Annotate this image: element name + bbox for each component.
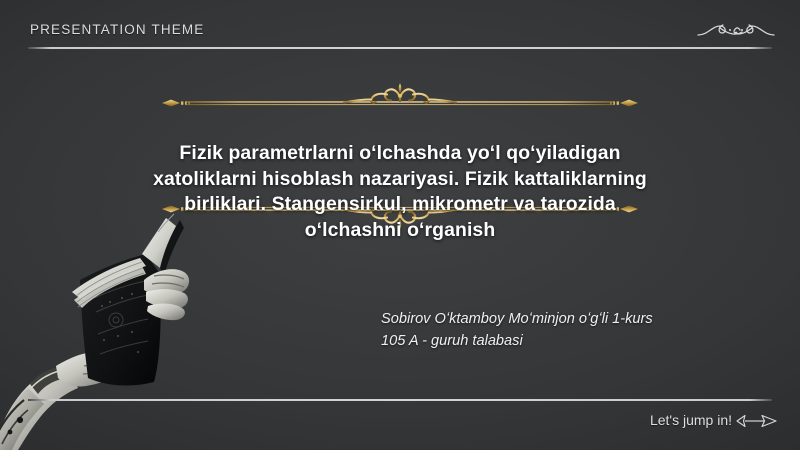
author-subtitle: Sobirov Oʻktamboy Moʻminjon oʻgʻli 1-kur… <box>381 308 671 352</box>
decorative-right-arrow-icon <box>736 413 778 429</box>
header-theme-label: PRESENTATION THEME <box>30 22 204 37</box>
presentation-slide: PRESENTATION THEME <box>0 0 800 450</box>
gold-ornamental-divider-top <box>160 80 640 114</box>
page-title: Fizik parametrlarni oʻlchashda yoʻl qoʻy… <box>150 141 650 243</box>
scroll-flourish-icon <box>694 18 778 44</box>
header-divider-line <box>28 47 772 49</box>
footer-divider-line <box>28 399 772 401</box>
footer-cta-label: Let's jump in! <box>650 412 732 428</box>
